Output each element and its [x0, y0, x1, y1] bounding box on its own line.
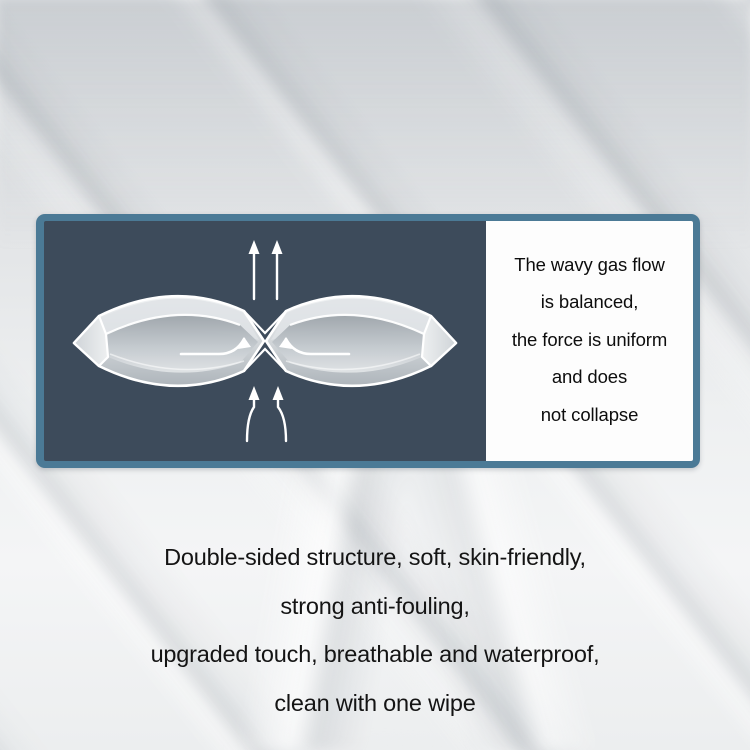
caption-line-4: clean with one wipe [0, 692, 750, 716]
right-chamber-cut-face [422, 316, 456, 366]
airflow-arrow-up-right [272, 240, 283, 299]
left-chamber-cut-face [74, 316, 108, 366]
diagram-panel-inner: The wavy gas flow is balanced, the force… [44, 221, 693, 461]
feature-caption: Double-sided structure, soft, skin-frien… [0, 546, 750, 715]
diagram-panel: The wavy gas flow is balanced, the force… [36, 214, 700, 468]
callout-line-4: and does [552, 368, 627, 387]
airflow-arrow-bottom-left [247, 386, 260, 441]
airflow-arrow-up-left [249, 240, 260, 299]
callout-line-2: is balanced, [541, 293, 639, 312]
caption-line-3: upgraded touch, breathable and waterproo… [0, 643, 750, 667]
caption-line-1: Double-sided structure, soft, skin-frien… [0, 546, 750, 570]
airflow-arrow-bottom-right [273, 386, 287, 441]
callout-line-3: the force is uniform [512, 331, 667, 350]
air-chamber-illustration [44, 221, 486, 461]
callout-line-1: The wavy gas flow [514, 256, 664, 275]
wavy-air-chamber-svg [44, 221, 486, 461]
caption-line-2: strong anti-fouling, [0, 595, 750, 619]
background-top-shading [0, 0, 750, 250]
callout-box: The wavy gas flow is balanced, the force… [486, 221, 693, 461]
product-feature-image: The wavy gas flow is balanced, the force… [0, 0, 750, 750]
callout-line-5: not collapse [541, 406, 639, 425]
